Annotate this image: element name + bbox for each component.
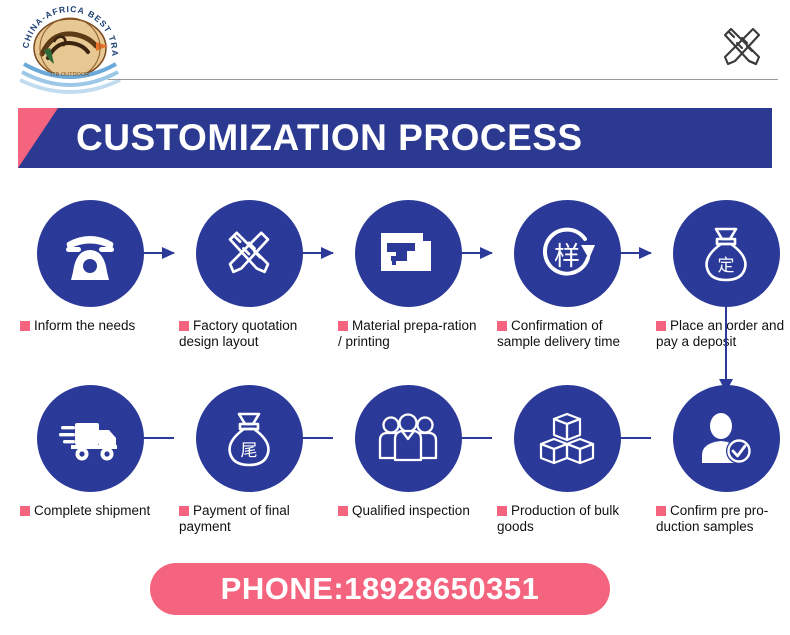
step-3-label: Material prepa-ration / printing: [332, 318, 484, 350]
printing-machine-icon: [379, 229, 437, 279]
step-2-label: Factory quotation design layout: [173, 318, 325, 350]
step-6-text: Confirm pre pro-duction samples: [656, 503, 768, 534]
step-3-bubble: [355, 200, 462, 307]
step-9-glyph: 尾: [241, 441, 258, 461]
pencil-ruler-icon: [716, 22, 768, 72]
delivery-truck-icon: [59, 415, 121, 463]
step-8-text: Qualified inspection: [352, 503, 470, 518]
logo-sub-text: ITB OUTDOOR: [51, 72, 89, 78]
process-step-2[interactable]: Factory quotation design layout: [173, 200, 325, 350]
page-header: CHINA-AFRICA BEST TRADING PLATFORM ITB O…: [0, 0, 790, 100]
step-7-bubble: [514, 385, 621, 492]
step-4-text: Confirmation of sample delivery time: [497, 318, 620, 349]
phone-label: PHONE:18928650351: [221, 571, 540, 607]
process-step-10[interactable]: Complete shipment: [14, 385, 166, 519]
process-row-1: Inform the needs Factory quota: [0, 200, 790, 385]
money-bag-deposit-icon: 定: [698, 224, 754, 284]
phone-banner[interactable]: PHONE:18928650351: [150, 563, 610, 615]
step-10-bubble: [37, 385, 144, 492]
boxes-icon: [538, 411, 596, 467]
header-divider: [108, 79, 778, 80]
banner-corner-accent: [18, 108, 58, 168]
step-4-label: Confirmation of sample delivery time: [491, 318, 643, 350]
telephone-icon: [60, 226, 120, 282]
process-step-1[interactable]: Inform the needs: [14, 200, 166, 334]
process-step-7[interactable]: Production of bulk goods: [491, 385, 643, 535]
page-title-part1: CUSTOMIZATION: [76, 117, 387, 158]
step-5-bubble: 定: [673, 200, 780, 307]
step-6-bullet: [656, 506, 666, 516]
step-7-label: Production of bulk goods: [491, 503, 643, 535]
step-5-glyph: 定: [718, 256, 735, 276]
sample-refresh-icon: 样: [537, 225, 597, 283]
process-flow: Inform the needs Factory quota: [0, 200, 790, 570]
step-1-label: Inform the needs: [14, 318, 166, 334]
step-10-bullet: [20, 506, 30, 516]
step-1-bullet: [20, 321, 30, 331]
step-8-bubble: [355, 385, 462, 492]
step-1-text: Inform the needs: [34, 318, 135, 333]
step-10-text: Complete shipment: [34, 503, 150, 518]
step-7-bullet: [497, 506, 507, 516]
process-step-3[interactable]: Material prepa-ration / printing: [332, 200, 484, 350]
step-2-bubble: [196, 200, 303, 307]
process-step-6[interactable]: Confirm pre pro-duction samples: [650, 385, 790, 535]
process-step-9[interactable]: 尾 Payment of final payment: [173, 385, 325, 535]
page-title-part2: PROCESS: [398, 117, 582, 158]
step-5-text: Place an order and pay a deposit: [656, 318, 784, 349]
step-9-bubble: 尾: [196, 385, 303, 492]
step-9-label: Payment of final payment: [173, 503, 325, 535]
step-6-bubble: [673, 385, 780, 492]
page-title: CUSTOMIZATION PROCESS: [76, 117, 583, 159]
step-9-text: Payment of final payment: [179, 503, 290, 534]
step-10-label: Complete shipment: [14, 503, 166, 519]
step-5-bullet: [656, 321, 666, 331]
step-2-bullet: [179, 321, 189, 331]
step-2-text: Factory quotation design layout: [179, 318, 297, 349]
step-3-text: Material prepa-ration / printing: [338, 318, 477, 349]
step-7-text: Production of bulk goods: [497, 503, 619, 534]
connector-arrow-vertical: [725, 306, 727, 391]
step-6-label: Confirm pre pro-duction samples: [650, 503, 790, 535]
process-step-4[interactable]: 样 Confirmation of sample delivery time: [491, 200, 643, 350]
step-9-bullet: [179, 506, 189, 516]
title-banner: CUSTOMIZATION PROCESS: [18, 108, 772, 168]
step-3-bullet: [338, 321, 348, 331]
step-4-glyph: 样: [554, 242, 580, 272]
money-bag-final-icon: 尾: [221, 409, 277, 469]
step-1-bubble: [37, 200, 144, 307]
step-8-label: Qualified inspection: [332, 503, 484, 519]
process-row-2: Complete shipment 尾 Payment of final pay…: [0, 385, 790, 570]
step-8-bullet: [338, 506, 348, 516]
step-4-bullet: [497, 321, 507, 331]
process-step-5[interactable]: 定 Place an order and pay a deposit: [650, 200, 790, 350]
pencil-ruler-icon: [220, 225, 278, 283]
china-africa-logo: CHINA-AFRICA BEST TRADING PLATFORM ITB O…: [8, 2, 133, 98]
user-check-icon: [696, 411, 756, 467]
process-step-8[interactable]: Qualified inspection: [332, 385, 484, 519]
step-4-bubble: 样: [514, 200, 621, 307]
step-5-label: Place an order and pay a deposit: [650, 318, 790, 350]
inspection-team-icon: [376, 412, 440, 466]
